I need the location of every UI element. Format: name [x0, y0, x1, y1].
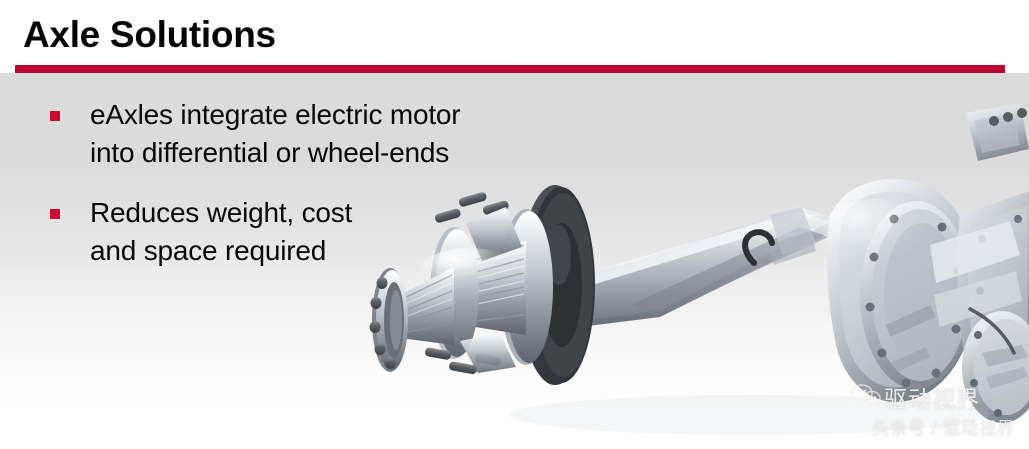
bullet-list: eAxles integrate electric motor into dif…: [50, 96, 650, 292]
square-bullet-icon: [50, 111, 60, 121]
differential-housing: [745, 179, 976, 402]
slide-canvas: Axle Solutions: [0, 0, 1029, 449]
bullet-text: Reduces weight, cost and space required: [90, 194, 650, 270]
list-item: eAxles integrate electric motor into dif…: [50, 96, 650, 172]
title-zone: Axle Solutions: [0, 0, 1029, 66]
bullet-text: eAxles integrate electric motor into dif…: [90, 96, 650, 172]
list-item: Reduces weight, cost and space required: [50, 194, 650, 270]
square-bullet-icon: [50, 209, 60, 219]
page-title: Axle Solutions: [23, 13, 276, 57]
title-accent-rule: [15, 65, 1005, 73]
